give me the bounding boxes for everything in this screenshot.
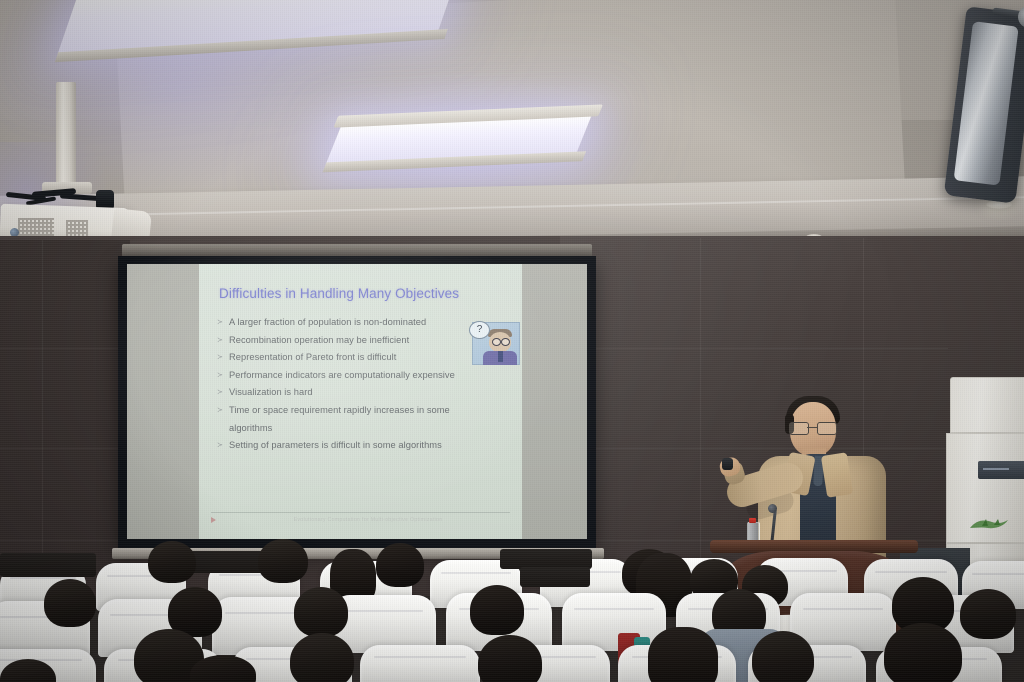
slide-bullet-list: A larger fraction of population is non-d… — [211, 314, 512, 455]
screen-surface: Difficulties in Handling Many Objectives… — [127, 264, 587, 539]
water-bottle-cap — [749, 518, 756, 523]
slide-bullet: Visualization is hard — [217, 384, 512, 402]
audience-head — [290, 633, 354, 682]
panel-light-2 — [326, 115, 592, 164]
seat-row-frame — [0, 553, 96, 577]
presenter-remote-icon[interactable] — [722, 458, 733, 470]
aircon-display-panel[interactable] — [978, 461, 1024, 479]
presenter-glasses-icon — [789, 422, 837, 433]
audience-head — [478, 635, 542, 682]
microphone-icon[interactable] — [768, 504, 777, 513]
audience-head — [258, 539, 308, 583]
screen-letterbox-left — [127, 264, 199, 539]
screen-letterbox-right — [522, 264, 587, 539]
projector-mount-pole — [56, 82, 76, 187]
play-triangle-icon — [211, 517, 216, 523]
audience-head — [148, 541, 196, 583]
slide-bullet: Setting of parameters is difficult in so… — [217, 437, 512, 455]
audience-head-long-hair — [648, 627, 718, 682]
audience-head — [470, 585, 524, 635]
audience-head — [884, 623, 962, 682]
slide-footer-text: Evolutionary Computation for Multi-objec… — [226, 517, 510, 523]
slide-bullet: Time or space requirement rapidly increa… — [217, 402, 512, 437]
wall-seam — [42, 240, 43, 570]
slide-bullet: Performance indicators are computational… — [217, 367, 512, 385]
audience-head — [960, 589, 1016, 639]
slide-title: Difficulties in Handling Many Objectives — [219, 286, 512, 301]
slide-bullet: Representation of Pareto front is diffic… — [217, 349, 512, 367]
seat-row-frame — [520, 567, 590, 587]
seat-row-frame — [500, 549, 592, 569]
audience-head — [294, 587, 348, 637]
water-bottle[interactable] — [746, 518, 759, 542]
presentation-slide: Difficulties in Handling Many Objectives… — [199, 264, 522, 539]
ceiling-projector — [0, 82, 150, 247]
back-wall-left-panel — [0, 240, 130, 570]
thought-bubble-icon: ? — [469, 321, 490, 339]
green-leaf-decal-icon — [968, 517, 1010, 531]
projection-screen: Difficulties in Handling Many Objectives… — [118, 256, 596, 548]
slide-footer: Evolutionary Computation for Multi-objec… — [211, 512, 510, 523]
slide-bullet: Recombination operation may be inefficie… — [217, 332, 512, 350]
cartoon-tie — [498, 351, 503, 362]
wall-seam — [700, 238, 701, 558]
glasses-bridge — [807, 427, 817, 428]
glasses-lens-right — [817, 422, 837, 435]
audience-head — [376, 543, 424, 587]
audience-head — [752, 631, 814, 682]
slide-bullet: A larger fraction of population is non-d… — [217, 314, 512, 332]
aircon-top-section — [950, 377, 1024, 433]
seated-audience — [0, 545, 1024, 682]
audience-head — [44, 579, 96, 627]
cartoon-glasses-left — [492, 338, 501, 346]
chair-front — [360, 645, 480, 682]
lecture-hall-photo: Difficulties in Handling Many Objectives… — [0, 0, 1024, 682]
puzzled-man-cartoon-icon: ? — [472, 322, 520, 365]
glasses-lens-left — [789, 422, 809, 435]
cartoon-glasses-right — [501, 338, 510, 346]
